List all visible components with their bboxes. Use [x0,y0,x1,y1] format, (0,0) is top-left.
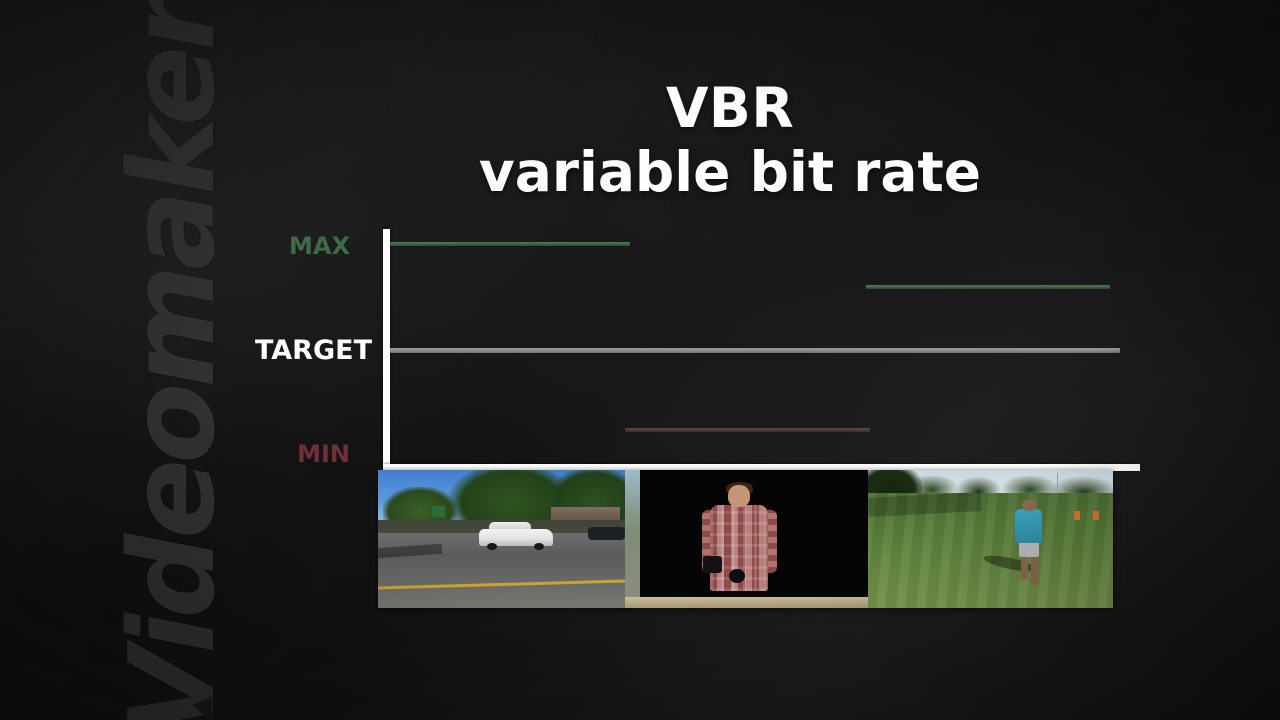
walker-leg-left [1021,556,1028,579]
watermark-label: Videomaker [113,0,231,720]
car-wheel-rear [534,543,544,550]
axis-label-target: TARGET [255,335,372,366]
page-title: VBR variable bit rate [430,78,1030,203]
bitrate-segment-2-min [625,428,870,432]
studio-floor [625,597,868,608]
presenter-head [728,485,750,507]
target-bitrate-line [390,348,1120,353]
thumbnail-grass-field [868,470,1113,608]
field-cone-left [1074,511,1080,519]
walker-teal-shirt [1015,509,1042,544]
bitrate-segment-3-max [866,285,1110,289]
thumbnail-car-road [378,470,625,608]
slide-canvas: Videomaker VBR variable bit rate MAX TAR… [0,0,1280,720]
field-cone-right [1093,511,1099,519]
chart-y-axis [383,229,390,471]
window-light [625,470,640,602]
thumbnail-presenter [625,470,868,608]
title-expansion: variable bit rate [430,142,1030,204]
bitrate-segment-1-max [390,242,630,246]
light-pole [1057,473,1059,495]
walker-head [1022,499,1037,511]
axis-label-min: MIN [297,440,350,468]
dark-car [588,527,625,541]
car-wheel-front [487,543,497,550]
axis-label-max: MAX [289,232,350,260]
walker-leg-right [1031,556,1038,585]
videomaker-watermark: Videomaker [102,98,242,720]
road-sign [432,506,444,517]
clip-thumbnail-strip [378,470,1113,608]
play-triangle-icon [192,692,212,720]
camera-body [703,556,722,574]
title-acronym: VBR [430,78,1030,140]
